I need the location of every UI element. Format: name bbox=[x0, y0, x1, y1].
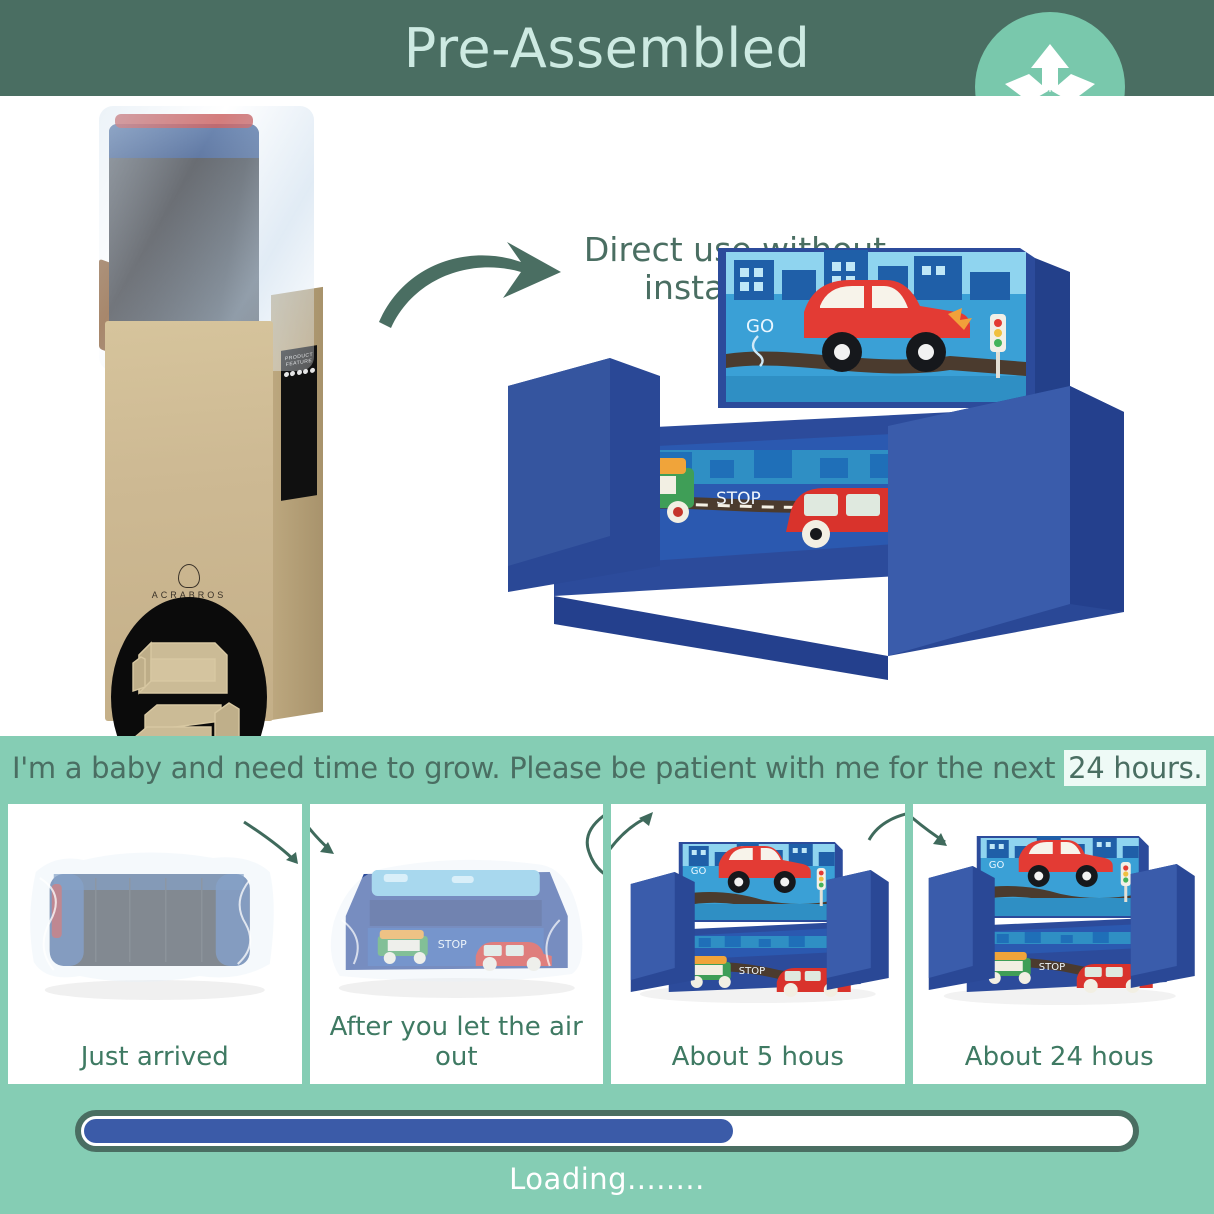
progress-bar bbox=[75, 1110, 1139, 1152]
panel-caption-3: About 5 hous bbox=[611, 1042, 905, 1072]
arrow-curve-svg-1 bbox=[242, 812, 302, 872]
loading-section: Loading........ bbox=[0, 1090, 1214, 1214]
panel-caption-2: After you let the air out bbox=[310, 1012, 604, 1072]
hero-sofa-photo: GO bbox=[490, 236, 1150, 706]
patience-banner: I'm a baby and need time to grow. Please… bbox=[0, 736, 1214, 800]
timeline-panel-air-out: STOP After you let the air out bbox=[310, 804, 604, 1084]
svg-text:STOP: STOP bbox=[716, 489, 761, 509]
svg-text:GO: GO bbox=[988, 860, 1004, 871]
panel-caption-1: Just arrived bbox=[8, 1042, 302, 1072]
top-showcase-section: PRODUCT FEATURE ACRABROS bbox=[0, 96, 1214, 736]
timeline-panels-row: Just arrived bbox=[0, 800, 1214, 1090]
step-arrow-icon-4 bbox=[913, 804, 969, 869]
timeline-panel-24-hours: GO bbox=[913, 804, 1207, 1084]
timeline-panel-just-arrived: Just arrived bbox=[8, 804, 302, 1084]
step-arrow-loop-icon-2 bbox=[551, 806, 603, 891]
svg-text:STOP: STOP bbox=[1038, 962, 1064, 973]
brand-mark-icon bbox=[178, 564, 200, 588]
timeline-panel-5-hours: GO bbox=[611, 804, 905, 1084]
step-arrow-loop-icon-3 bbox=[851, 804, 905, 879]
svg-text:STOP: STOP bbox=[739, 966, 765, 977]
loading-label: Loading........ bbox=[0, 1162, 1214, 1196]
carton-front-panel: ACRABROS Children Convertible bbox=[105, 321, 273, 721]
arrow-up-svg-3 bbox=[611, 804, 667, 864]
step-arrow-icon-3 bbox=[611, 804, 667, 869]
step-arrow-icon-1 bbox=[242, 812, 302, 877]
product-packaging-box: PRODUCT FEATURE ACRABROS bbox=[95, 106, 325, 726]
hero-sofa-svg: GO bbox=[490, 236, 1150, 706]
svg-text:GO: GO bbox=[746, 316, 774, 337]
arrow-curve-svg-2 bbox=[310, 810, 356, 866]
page-title: Pre-Assembled bbox=[404, 17, 810, 80]
brand-logo: ACRABROS bbox=[105, 564, 273, 600]
svg-text:GO: GO bbox=[691, 866, 707, 877]
progress-bar-fill bbox=[84, 1119, 733, 1143]
arrow-loop-svg-3 bbox=[851, 804, 905, 874]
step-arrow-icon-2 bbox=[310, 810, 356, 871]
banner-highlight-24-hours: 24 hours. bbox=[1064, 750, 1206, 786]
banner-text-main: I'm a baby and need time to grow. Please… bbox=[12, 751, 1064, 785]
banner-text: I'm a baby and need time to grow. Please… bbox=[0, 751, 1206, 785]
arrow-loop-svg-2 bbox=[551, 806, 603, 886]
panel-caption-4: About 24 hous bbox=[913, 1042, 1207, 1072]
arrow-down-right-svg-4 bbox=[913, 804, 969, 864]
